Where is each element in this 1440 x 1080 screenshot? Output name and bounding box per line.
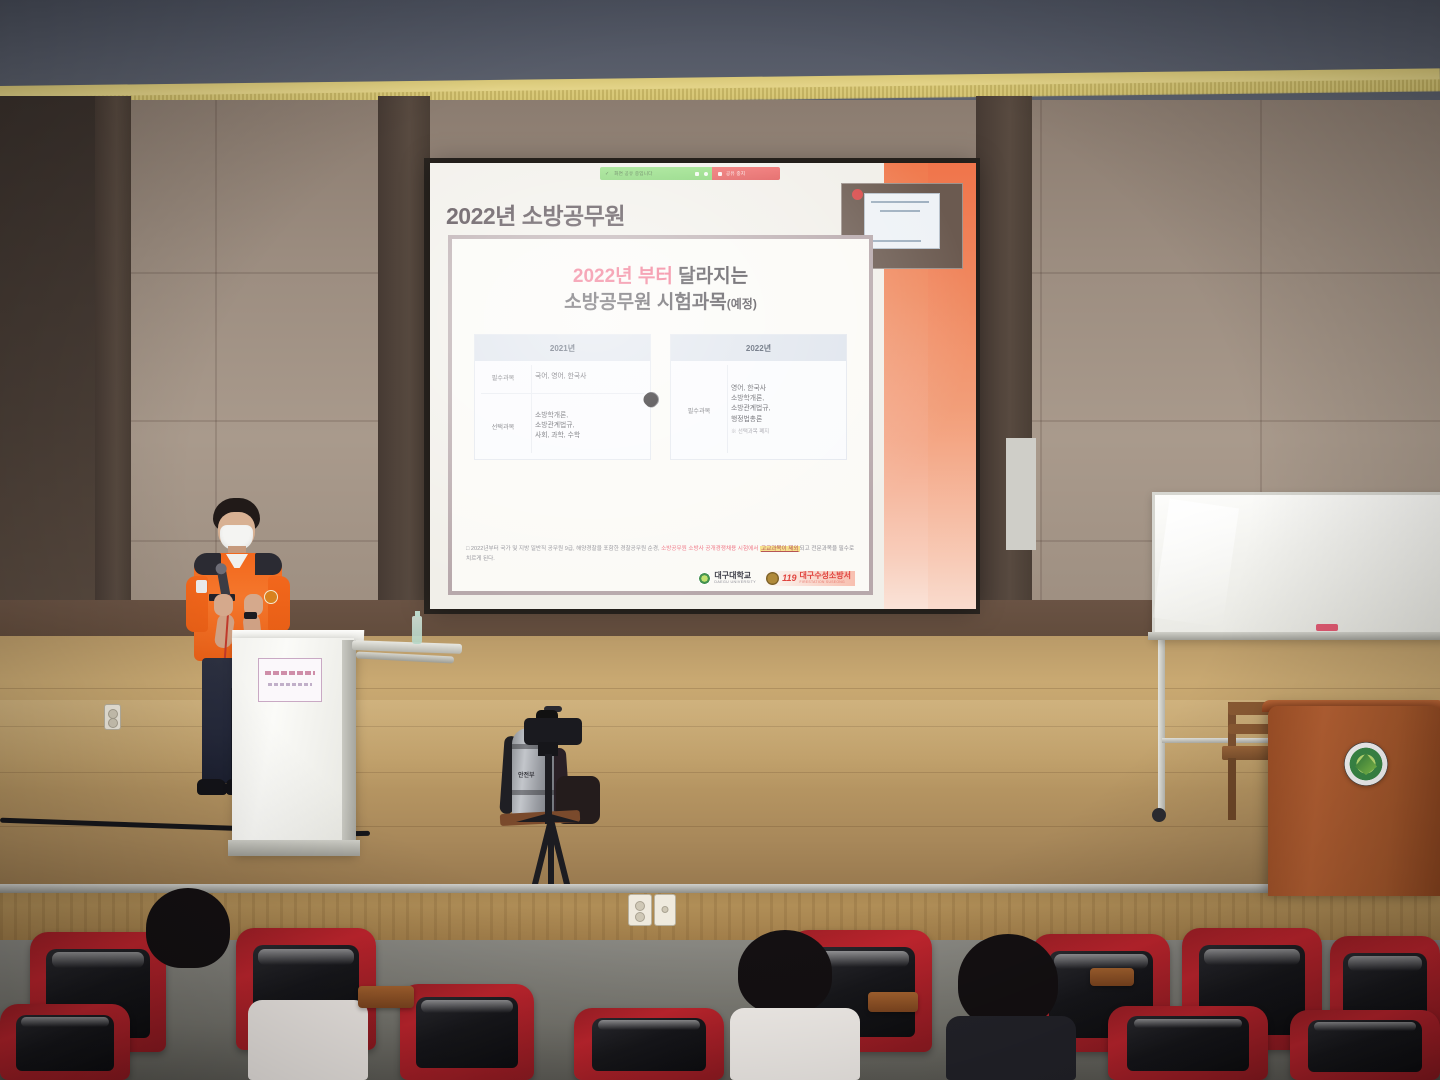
table-header-2022: 2022년 <box>671 335 846 361</box>
wall-outlet-icon <box>104 704 121 730</box>
emergency-number: 119 <box>782 574 796 583</box>
stop-icon <box>718 172 722 176</box>
headline-pink-text: 2022년 부터 <box>573 266 673 287</box>
slide-logo-bar: 대구대학교 DAEGU UNIVERSITY 119 대구수성소방서 FIRES… <box>466 569 855 587</box>
audience-shirt <box>946 1016 1076 1080</box>
fire-station-name-en: FIRESTATION SUSEONG <box>799 580 851 584</box>
wall-column <box>378 96 430 656</box>
audience-shirt <box>730 1008 860 1080</box>
slide-headline-line1: 2022년 부터 달라지는 <box>452 261 869 288</box>
university-logo: 대구대학교 DAEGU UNIVERSITY <box>698 572 756 585</box>
water-bottle <box>412 616 422 644</box>
annotate-icon[interactable] <box>704 172 708 176</box>
audience-seat[interactable] <box>400 984 534 1080</box>
row-value: 소방학개론, 소방관계법규, 사회, 과학, 수학 <box>531 393 650 459</box>
table-2021-card: 2021년 필수과목 국어, 영어, 한국사 선택과목 소방학개론, 소방관계법… <box>474 334 651 460</box>
seat-armrest <box>1090 968 1134 986</box>
whiteboard-caster <box>1152 808 1166 822</box>
audience-head <box>738 930 832 1014</box>
university-name-en: DAEGU UNIVERSITY <box>714 580 756 585</box>
wristwatch-icon <box>244 612 257 619</box>
audience-head <box>146 888 230 968</box>
footnote-part1: □ 2022년부터 국가 및 지방 일반직 공무원 9급, 해양경찰을 포함한 … <box>466 546 661 552</box>
whiteboard-tray <box>1148 632 1440 640</box>
audience-seat[interactable] <box>574 1008 724 1080</box>
presenter-shoe-left <box>197 779 227 795</box>
tripod-center-column <box>545 754 552 824</box>
projection-screen: ✓ 화면 공유 중입니다 공유 중지 2022년 소방공무원 시도학 <box>430 163 976 609</box>
dslr-camera <box>524 718 582 745</box>
audience-seat[interactable] <box>0 1004 130 1080</box>
table-2022-card: 2022년 필수과목 영어, 한국사 소방학개론, 소방관계법규, 행정법총론 … <box>670 334 847 460</box>
seat-armrest <box>868 992 918 1012</box>
podium-base <box>228 840 360 856</box>
scba-label: 안전부 <box>518 770 535 779</box>
fire-station-name-kr: 대구수성소방서 <box>799 572 851 580</box>
chair-leg <box>1228 758 1236 820</box>
slide-footnote: □ 2022년부터 국가 및 지방 일반직 공무원 9급, 해양경찰을 포함한 … <box>466 545 855 565</box>
row-label: 필수과목 <box>475 361 531 393</box>
row-value-highlight: 영어, 한국사 소방학개론, 소방관계법규, 행정법총론 <box>731 384 846 425</box>
footnote-highlight: 고교과목이 제외 <box>760 546 800 552</box>
headline-line2-text: 소방공무원 시험과목 <box>564 292 727 313</box>
table-row: 필수과목 영어, 한국사 소방학개론, 소방관계법규, 행정법총론 ※ 선택과목… <box>671 361 846 459</box>
uniform-arm-patch-icon <box>264 590 278 604</box>
audience-head <box>958 934 1058 1028</box>
row-value: 국어, 영어, 한국사 <box>531 361 650 393</box>
stop-share-label: 공유 중지 <box>726 171 745 177</box>
headline-rest-text: 달라지는 <box>673 266 748 287</box>
screenshare-status: ✓ 화면 공유 중입니다 <box>600 167 712 180</box>
uniform-badge-icon <box>196 580 207 593</box>
slide-title: 2022년 소방공무원 <box>446 197 625 231</box>
table-row: 선택과목 소방학개론, 소방관계법규, 사회, 과학, 수학 <box>475 393 650 459</box>
audience-seat[interactable] <box>1108 1006 1268 1080</box>
presenter-hand-left <box>214 594 233 616</box>
podium-side-panel <box>342 640 356 845</box>
podium-sign <box>258 658 322 702</box>
university-name-kr: 대구대학교 <box>714 572 756 580</box>
university-seal-icon <box>698 572 711 585</box>
wall-white-strip <box>1006 438 1036 550</box>
stage-outlet-icon <box>654 894 676 926</box>
table-row: 필수과목 국어, 영어, 한국사 <box>475 361 650 393</box>
university-emblem-icon <box>1344 742 1388 786</box>
seat-armrest <box>358 986 414 1008</box>
whiteboard[interactable] <box>1152 492 1440 640</box>
presenter-arm-right <box>268 576 290 632</box>
whiteboard-marker[interactable] <box>1316 624 1338 631</box>
transition-arrow-icon <box>654 390 667 412</box>
comparison-table: 2021년 필수과목 국어, 영어, 한국사 선택과목 소방학개론, 소방관계법… <box>474 334 847 460</box>
wall-column <box>976 96 1032 656</box>
thumbnail-monitor <box>864 193 940 249</box>
row-label: 필수과목 <box>671 361 727 459</box>
screenshare-status-text: 화면 공유 중입니다 <box>614 171 652 177</box>
screenshare-toolbar[interactable]: ✓ 화면 공유 중입니다 공유 중지 <box>600 167 780 180</box>
stop-share-button[interactable]: 공유 중지 <box>712 167 780 180</box>
stage-outlet-icon <box>628 894 652 926</box>
shoulder-patch-right <box>255 553 282 575</box>
auditorium-scene: ✓ 화면 공유 중입니다 공유 중지 2022년 소방공무원 시도학 <box>0 0 1440 1080</box>
table-header-2021: 2021년 <box>475 335 650 361</box>
headline-line2-suffix: (예정) <box>727 297 757 311</box>
wooden-lectern <box>1268 706 1440 896</box>
audience-seat[interactable] <box>1290 1010 1440 1080</box>
footnote-part2: 소방공무원 소방사 공개경쟁채용 시험에서 <box>661 546 760 552</box>
slide-headline-line2: 소방공무원 시험과목(예정) <box>452 287 869 314</box>
wall-seam <box>1040 100 1042 645</box>
audience-shirt <box>248 1000 368 1080</box>
slide-content-frame: 2022년 부터 달라지는 소방공무원 시험과목(예정) 2021년 필수과목 … <box>448 235 873 595</box>
pause-icon[interactable] <box>695 172 699 176</box>
wall-column <box>95 96 131 656</box>
record-indicator-icon <box>852 189 863 200</box>
row-note: ※ 선택과목 폐지 <box>731 428 846 436</box>
fire-station-logo: 119 대구수성소방서 FIRESTATION SUSEONG <box>762 571 855 586</box>
row-label: 선택과목 <box>475 393 531 459</box>
fire-emblem-icon <box>766 572 779 585</box>
check-icon: ✓ <box>605 171 609 177</box>
